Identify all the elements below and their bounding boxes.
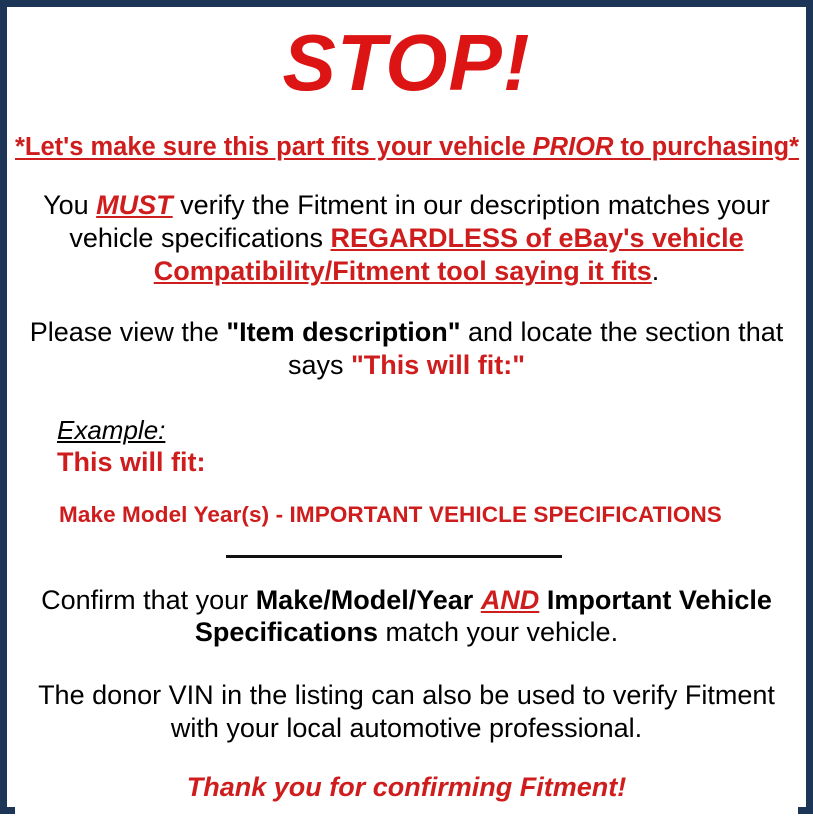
confirm-seg1: Confirm that your <box>41 585 256 615</box>
divider-row <box>15 554 798 558</box>
item-description-emphasis: "Item description" <box>226 317 460 347</box>
must-seg1: You <box>43 190 96 220</box>
and-emphasis: AND <box>481 585 540 615</box>
confirm-space-2 <box>539 585 547 615</box>
example-label: Example: <box>57 416 165 445</box>
subtitle-before-text: *Let's make sure this part fits your veh… <box>15 133 533 161</box>
this-will-fit-emphasis: "This will fit:" <box>351 350 525 380</box>
fitment-notice-card: STOP! *Let's make sure this part fits yo… <box>0 0 813 814</box>
please-seg1: Please view the <box>30 317 227 347</box>
must-seg3: . <box>652 256 660 286</box>
subtitle-warning: *Let's make sure this part fits your veh… <box>15 133 798 162</box>
paragraph-please-view: Please view the "Item description" and l… <box>15 316 798 382</box>
paragraph-donor-vin: The donor VIN in the listing can also be… <box>15 679 798 745</box>
example-spec-line: Make Model Year(s) - IMPORTANT VEHICLE S… <box>57 502 798 528</box>
make-model-year-emphasis: Make/Model/Year <box>256 585 474 615</box>
section-divider <box>226 555 562 558</box>
confirm-space-1 <box>473 585 481 615</box>
notice-card-inner: STOP! *Let's make sure this part fits yo… <box>15 23 798 821</box>
example-fit-line: This will fit: <box>57 447 798 478</box>
example-block: Example: This will fit: Make Model Year(… <box>15 416 798 528</box>
paragraph-confirm: Confirm that your Make/Model/Year AND Im… <box>15 584 798 650</box>
subtitle-after-text: to purchasing* <box>613 133 799 161</box>
subtitle-prior-emphasis: PRIOR <box>533 133 614 161</box>
confirm-seg2: match your vehicle. <box>378 617 618 647</box>
must-emphasis: MUST <box>96 190 173 220</box>
stop-title: STOP! <box>15 23 798 103</box>
thanks-line: Thank you for confirming Fitment! <box>15 771 798 803</box>
paragraph-must-verify: You MUST verify the Fitment in our descr… <box>15 189 798 288</box>
example-label-row: Example: <box>57 416 798 445</box>
